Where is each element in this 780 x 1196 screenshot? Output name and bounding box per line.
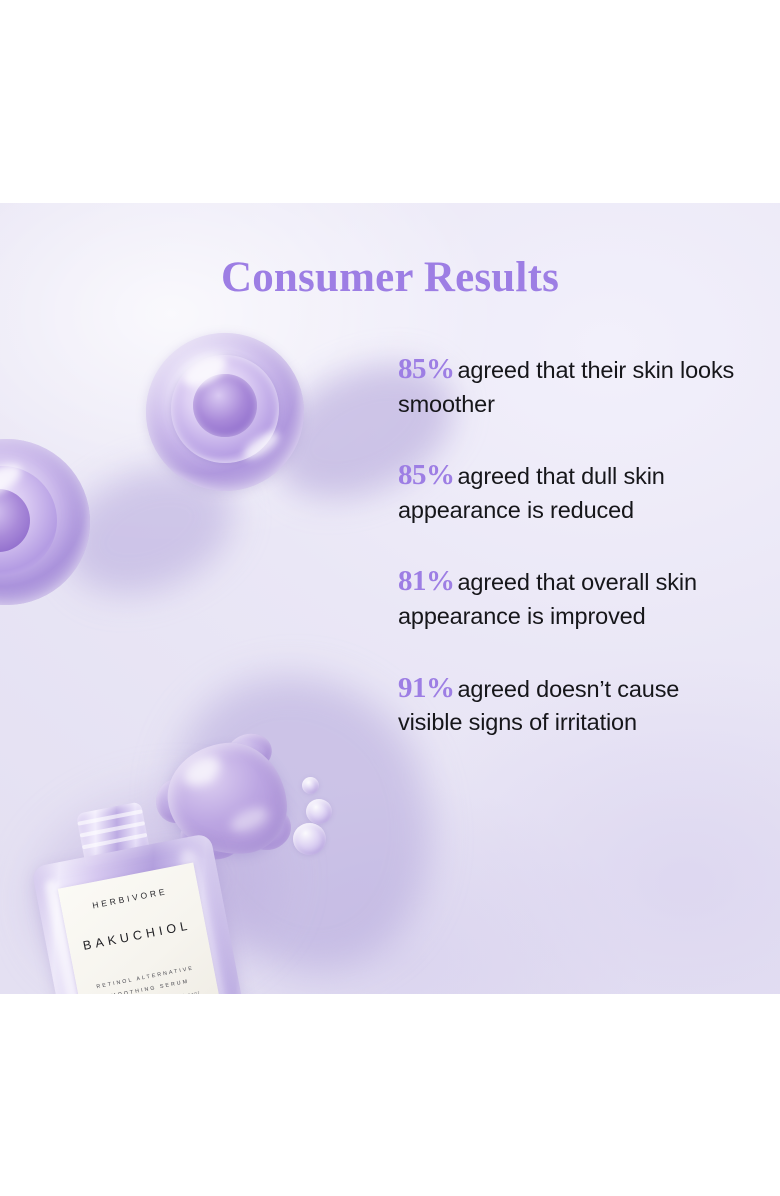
serum-droplet-small (302, 777, 319, 794)
glass-cap-left-cropped (0, 439, 90, 605)
glass-cap-top-view (146, 333, 304, 491)
label-descriptor: RETINOL ALTERNATIVE SMOOTHING SERUM (95, 962, 197, 994)
product-results-image: HERBIVORE BAKUCHIOL RETINOL ALTERNATIVE … (0, 0, 780, 1196)
serum-droplet-medium (306, 799, 332, 824)
label-brand: HERBIVORE (91, 886, 168, 910)
serum-droplet-large (293, 823, 326, 855)
label-product-name: BAKUCHIOL (82, 918, 193, 953)
product-photo-panel: HERBIVORE BAKUCHIOL RETINOL ALTERNATIVE … (0, 203, 780, 994)
